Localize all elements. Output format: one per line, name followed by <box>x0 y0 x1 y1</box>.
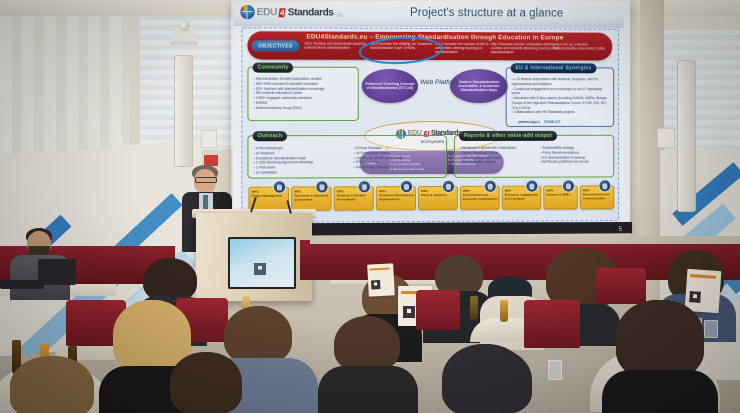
synergies-card: EU & International Synergies ≥ 10 Mutual… <box>506 67 615 127</box>
audience-member-front <box>430 344 548 413</box>
podium-monitor <box>228 237 296 289</box>
conference-room-photo: EDU 4 Standards .eu Project's structure … <box>0 0 740 413</box>
work-package-9[interactable]: WP9Dissemination and communication <box>580 185 614 209</box>
globe-icon <box>240 5 254 19</box>
wall-speaker-left <box>174 55 193 167</box>
outreach-left-bullets: 4 Pilot Workshops 10 Webinars 5 Academic… <box>254 146 350 175</box>
work-package-4[interactable]: WP4Academic Development Organisations <box>376 186 416 210</box>
bottle <box>500 300 508 322</box>
reports-title: Reports & other value-add output <box>459 131 557 141</box>
work-package-7[interactable]: WP7Research, engagement & EU projects <box>502 186 542 210</box>
logo-tld: .eu <box>336 13 343 20</box>
synergies-title: EU & International Synergies <box>511 63 597 73</box>
chair <box>416 290 460 330</box>
wall-speaker-right <box>677 60 696 212</box>
desk-ledge-right <box>310 236 740 244</box>
projection-screen: EDU 4 Standards .eu Project's structure … <box>231 0 630 238</box>
glasses-icon <box>195 177 217 183</box>
outreach-card: Outreach 4 Pilot Workshops 10 Webinars 5… <box>247 135 447 179</box>
logo-standards: Standards <box>288 7 334 18</box>
etcos-oval: Enhanced Teaching Concept of Standardisa… <box>362 69 418 103</box>
slide-title: Project's structure at a glance <box>410 7 563 20</box>
objectives-bar: OBJECTIVES EDU4Standards.eu – Empowering… <box>247 31 612 60</box>
partner-logo-1: partner-logo-1 <box>519 120 540 124</box>
partner-logo-2: STAND-ICT <box>544 120 561 124</box>
work-package-3[interactable]: WP3Students & Student Associations <box>334 186 374 210</box>
slide-header: EDU 4 Standards .eu Project's structure … <box>233 0 624 28</box>
community-bullets: Standardisation Student Association crea… <box>254 77 355 111</box>
objectives-headline: EDU4Standards.eu – Empowering Standardis… <box>306 33 563 41</box>
objectives-label: OBJECTIVES <box>252 40 300 51</box>
objective-4: Obj.4 Increase number of teachers offeri… <box>491 42 560 55</box>
logo-four: 4 <box>279 8 287 17</box>
outreach-title: Outreach <box>253 131 288 141</box>
community-title: Community <box>253 63 294 73</box>
ceiling-camera <box>173 27 195 43</box>
qr-code-icon <box>254 263 266 275</box>
laptop-base-left <box>0 280 44 289</box>
reports-card: Reports & other value-add output Whitepa… <box>454 135 614 178</box>
community-card: Community Standardisation Student Associ… <box>247 67 358 121</box>
slide-number: 5 <box>619 227 622 233</box>
slide-canvas: OBJECTIVES EDU4Standards.eu – Empowering… <box>241 27 619 223</box>
objective-5: Obj.5 Set up a Student Standardisation A… <box>554 42 609 51</box>
reports-left-bullets: Whitepapers & Scientific Publications On… <box>460 146 537 165</box>
audience-member-front <box>0 356 110 413</box>
reports-right-bullets: Sustainability strategy Policy Recommend… <box>540 146 611 165</box>
audience-member-front <box>600 300 720 413</box>
web-platform-label: Web Platform <box>420 79 459 86</box>
audience-member-front <box>160 352 256 413</box>
qr-code-icon <box>403 306 415 318</box>
wall-plate-left <box>201 130 217 148</box>
logo-edu: EDU <box>257 7 278 18</box>
edu4standards-logo: EDU 4 Standards .eu <box>240 5 361 20</box>
bottle <box>470 296 478 320</box>
qr-code-icon <box>371 280 380 289</box>
audience-member-front <box>318 316 418 413</box>
work-package-5[interactable]: WP5Pilots & Teachers <box>418 186 458 210</box>
outreach-right-bullets: 5 Press Releases 10 Professional Videos … <box>354 146 442 170</box>
synergies-bullets: ≥ 10 Mutual cooperations with National, … <box>512 77 610 115</box>
table-flyer <box>367 263 395 296</box>
chair <box>524 300 580 348</box>
work-package-2[interactable]: WP2Taxonomy & standards assessment <box>291 186 331 210</box>
projected-slide: EDU 4 Standards .eu Project's structure … <box>231 0 630 238</box>
work-package-8[interactable]: WP8Industry & SMEs <box>543 185 578 209</box>
objective-1: Obj.1 Develop and disseminate teaching m… <box>304 41 368 50</box>
wall-plate-right <box>657 128 675 148</box>
partner-logos: partner-logo-1 STAND-ICT <box>519 120 561 124</box>
work-package-6[interactable]: WP6Environment and European organisation… <box>460 186 500 210</box>
drinking-glass <box>548 360 562 380</box>
objective-3: Obj.3 Increase the number of HEI & unive… <box>435 42 498 55</box>
chair <box>596 268 646 304</box>
